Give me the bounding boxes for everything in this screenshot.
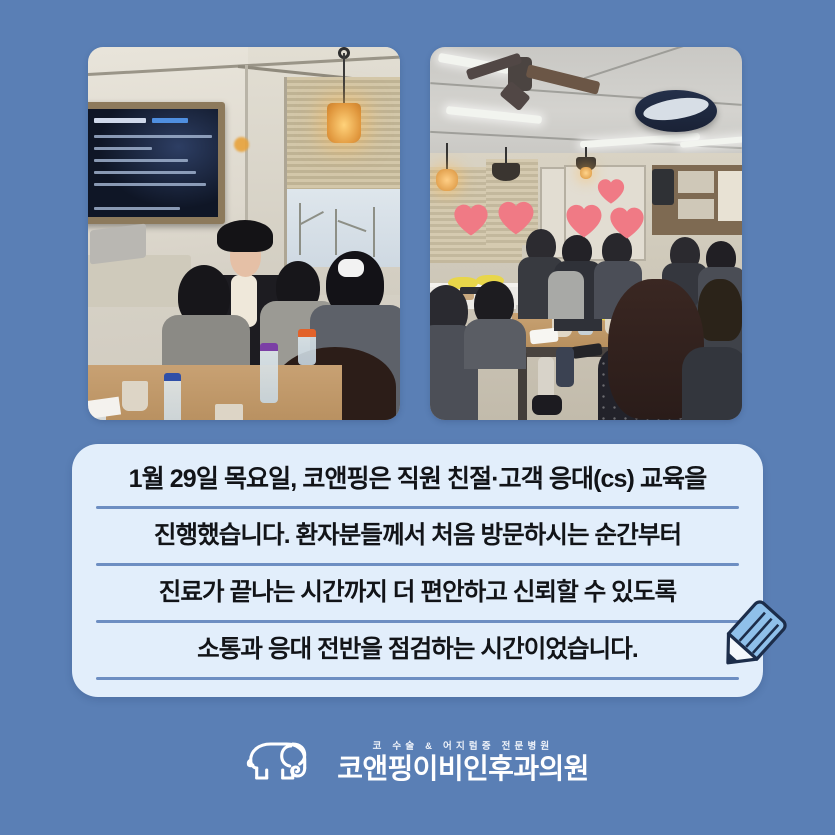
elephant-icon — [246, 734, 324, 786]
heart-icon — [496, 199, 536, 236]
photo-lecture-presenter — [88, 47, 400, 420]
caption-line-4: 소통과 응대 전반을 점검하는 시간이었습니다. — [94, 623, 741, 677]
caption-line-3: 진료가 끝나는 시간까지 더 편안하고 신뢰할 수 있도록 — [94, 566, 741, 620]
caption-line-2: 진행했습니다. 환자분들께서 처음 방문하시는 순간부터 — [94, 509, 741, 563]
footer-logo: 코 수술 & 어지럼증 전문병원 코앤핑이비인후과의원 — [0, 728, 835, 813]
heart-icon — [608, 205, 646, 240]
heart-icon — [596, 177, 626, 205]
heart-icon — [452, 202, 490, 237]
poster-canvas: 1월 29일 목요일, 코앤핑은 직원 친절·고객 응대(cs) 교육을 진행했… — [0, 0, 835, 835]
photo-row — [0, 0, 835, 440]
heart-icon — [564, 202, 604, 239]
pencil-icon — [715, 598, 789, 674]
caption-line-1: 1월 29일 목요일, 코앤핑은 직원 친절·고객 응대(cs) 교육을 — [94, 452, 741, 506]
pendant-lamp — [327, 103, 361, 143]
clinic-tagline: 코 수술 & 어지럼증 전문병원 — [373, 738, 554, 752]
clinic-name: 코앤핑이비인후과의원 — [337, 755, 589, 783]
caption-card: 1월 29일 목요일, 코앤핑은 직원 친절·고객 응대(cs) 교육을 진행했… — [72, 444, 763, 697]
photo-staff-group — [430, 47, 742, 420]
caption-divider — [96, 677, 739, 680]
presentation-screen — [88, 102, 225, 224]
